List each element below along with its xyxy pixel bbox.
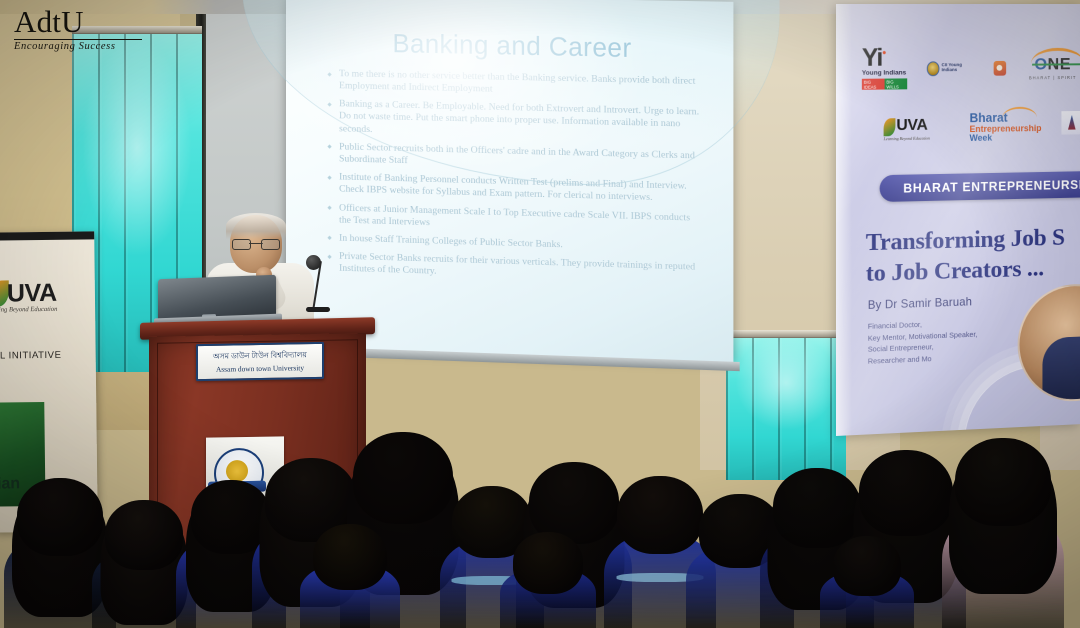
slide-bullet: To me there is no other service better t… (326, 68, 704, 101)
slide-bullet: Public Sector recruits both in the Offic… (326, 141, 704, 175)
watermark-rule (14, 39, 142, 40)
audience-member (820, 536, 914, 628)
seal-icon (927, 61, 940, 76)
slide-bullet: Institute of Banking Personnel conducts … (326, 171, 704, 206)
edge-partner-logo-icon (1061, 111, 1080, 135)
bew-line-3: Week (970, 133, 1041, 143)
watermark-tagline: Encouraging Success (14, 41, 164, 52)
yuva-wordmark: UVA (896, 116, 944, 134)
speaker-hair (226, 213, 286, 239)
speaker-glasses (232, 239, 280, 248)
cii-logo: CII Young Indians (927, 61, 974, 76)
yuva-tagline: Learning Beyond Education (0, 306, 58, 314)
presentation-photo: Banking and Career To me there is no oth… (0, 0, 1080, 628)
slide-bullet: Banking as a Career. Be Employable. Need… (326, 98, 704, 144)
cii-logo-text: CII Young Indians (942, 63, 974, 73)
yi-tagline-strip: BIG IDEAS BIG WILLS (862, 78, 907, 90)
banner-headline: Transforming Job S to Job Creators ... (866, 221, 1080, 289)
slide-bullet: Officers at Junior Management Scale I to… (326, 202, 704, 237)
audience-head (833, 536, 901, 596)
sponsor-logo-row-top: Yi• Young Indians BIG IDEAS BIG WILLS CI… (862, 47, 1080, 90)
audience-seating (0, 330, 1080, 628)
yi-strip-left: BIG IDEAS (862, 78, 885, 90)
banner-top-bar (0, 231, 94, 240)
audience-head (859, 450, 953, 536)
event-name-pill: BHARAT ENTREPRENEURSHI (880, 170, 1080, 202)
slide-content: Banking and Career To me there is no oth… (316, 29, 710, 294)
audience-head (105, 500, 183, 570)
yuva-tagline: Learning Beyond Education (884, 135, 945, 141)
sponsor-logo-row-middle: UVA Learning Beyond Education Bharat Ent… (884, 111, 1080, 144)
microphone-base (306, 307, 330, 312)
audience-head (513, 532, 583, 594)
adtu-watermark: AdtU Encouraging Success (14, 6, 164, 52)
yuva-logo-banner: UVA Learning Beyond Education (884, 116, 945, 141)
swoosh-icon (1002, 107, 1036, 118)
yuva-logo: UVA Learning Beyond Education (0, 278, 81, 313)
yi-name-text: Young Indians (862, 70, 907, 77)
audience-member (942, 438, 1064, 628)
slide-bullet: Private Sector Banks recruits for their … (326, 250, 704, 286)
slide-title: Banking and Career (316, 29, 710, 66)
audience-member (300, 524, 400, 628)
bharat-entrepreneurship-week-logo: Bharat Entrepreneurship Week (970, 111, 1041, 143)
yuva-wordmark: UVA (7, 279, 57, 309)
one-bharat-logo: ONE BHARAT | SPIRIT (1025, 55, 1080, 80)
audience-member (500, 532, 596, 628)
audience-head (955, 438, 1051, 526)
yi-letters: Yi (862, 44, 882, 72)
young-indians-logo: Yi• Young Indians BIG IDEAS BIG WILLS (862, 48, 907, 90)
one-subtitle: BHARAT | SPIRIT (1025, 75, 1080, 80)
headline-line-1: Transforming Job S (866, 221, 1080, 258)
audience-head (313, 524, 387, 590)
event-name-label: BHARAT ENTREPRENEURSHI (903, 177, 1080, 195)
slide-bullet-list: To me there is no other service better t… (316, 68, 710, 287)
yi-strip-right: BIG WILLS (884, 78, 907, 90)
yi-dot-icon: • (882, 47, 885, 59)
leaf-icon (884, 118, 896, 136)
speaker-byline: By Dr Samir Baruah (868, 295, 972, 311)
partner-badge-icon (993, 61, 1006, 76)
watermark-brand: AdtU (14, 6, 164, 37)
yi-wordmark: Yi• (862, 48, 907, 69)
audience-head (353, 432, 453, 524)
tricolour-swoosh-icon (1031, 48, 1080, 64)
audience-head (17, 478, 103, 556)
headline-line-2: to Job Creators ... (866, 252, 1080, 290)
